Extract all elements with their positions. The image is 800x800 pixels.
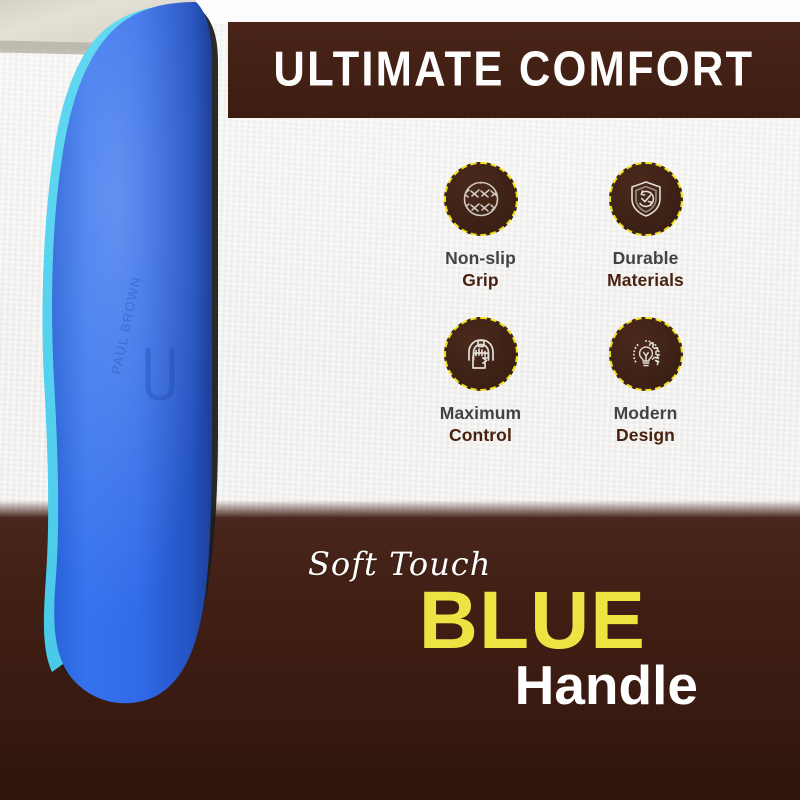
feature-label-line1: Non-slip (445, 248, 516, 270)
feature-label: Durable Materials (607, 248, 684, 292)
feature-label: Modern Design (614, 403, 678, 447)
feature-label-line1: Durable (607, 248, 684, 270)
feature-label-line2: Control (440, 425, 521, 447)
header-banner: ULTIMATE COMFORT (228, 22, 800, 118)
promo-text-block: Soft Touch BLUE Handle (250, 545, 750, 714)
feature-item-modern-design: Modern Design (563, 317, 728, 472)
feature-label-line2: Materials (607, 270, 684, 292)
feature-item-durable-materials: Durable Materials (563, 162, 728, 317)
shield-check-icon (609, 162, 683, 236)
feature-grid: Non-slip Grip Durable Materials (398, 162, 728, 472)
feature-label: Non-slip Grip (445, 248, 516, 292)
feature-label-line2: Design (614, 425, 678, 447)
product-marketing-image: PAUL BROWN ULTIMATE COMFORT (0, 0, 800, 800)
feature-label-line2: Grip (445, 270, 516, 292)
feature-label: Maximum Control (440, 403, 521, 447)
feature-label-line1: Maximum (440, 403, 521, 425)
feature-item-maximum-control: Maximum Control (398, 317, 563, 472)
feature-item-non-slip-grip: Non-slip Grip (398, 162, 563, 317)
lightbulb-gear-icon (609, 317, 683, 391)
non-slip-grip-icon (444, 162, 518, 236)
hand-grip-icon (444, 317, 518, 391)
page-title: ULTIMATE COMFORT (274, 42, 755, 98)
feature-label-line1: Modern (614, 403, 678, 425)
promo-highlight-text: BLUE (250, 579, 750, 663)
